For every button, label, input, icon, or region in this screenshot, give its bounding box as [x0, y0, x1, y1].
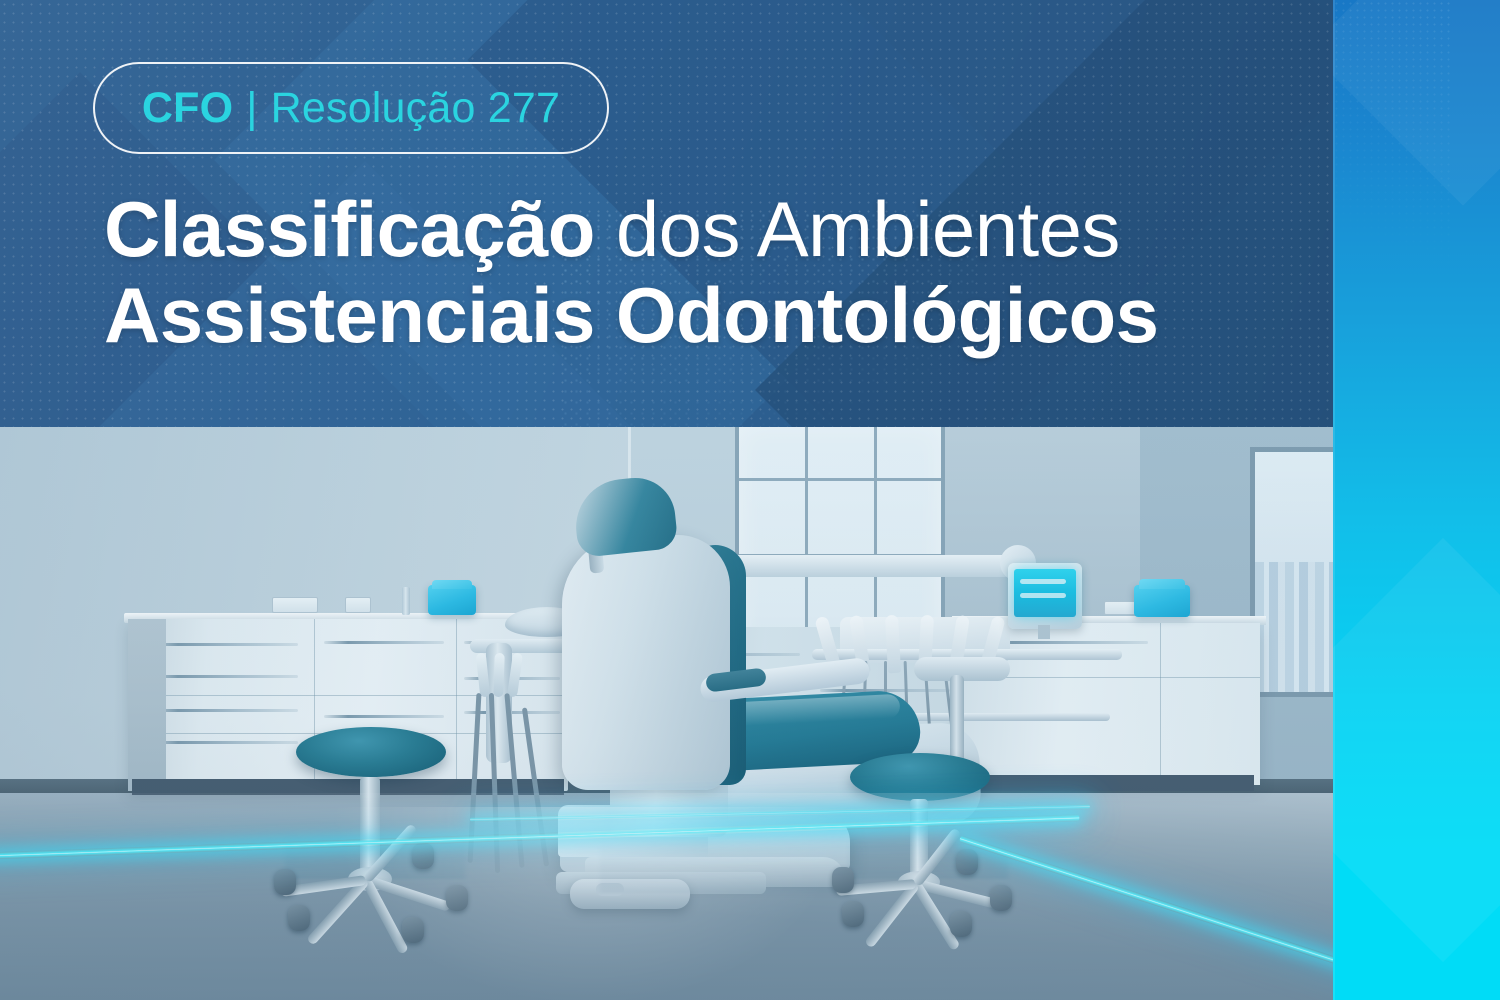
foot-control-pedal	[570, 879, 690, 909]
drawer-handle	[324, 641, 444, 644]
cabinet-left-side-panel	[128, 619, 166, 791]
wall-socket-left	[272, 597, 318, 613]
clinic-photo	[0, 427, 1333, 1000]
overhead-arm-horizontal	[700, 555, 1020, 577]
badge-org-label: CFO	[142, 87, 233, 130]
monitor-screen-line-2	[1020, 593, 1066, 598]
accent-gradient-panel	[1333, 0, 1500, 1000]
page-title: Classificação dos Ambientes Assistenciai…	[104, 186, 1284, 358]
accent-panel-facet-1	[1333, 538, 1500, 962]
dental-chair-backrest	[562, 535, 730, 790]
side-window	[1250, 447, 1333, 697]
window-mullion-h1	[739, 478, 941, 481]
drawer-handle	[324, 715, 444, 718]
resolution-badge: CFO | Resolução 277	[93, 62, 609, 154]
monitor-screen	[1014, 569, 1076, 617]
stool-caster	[446, 885, 468, 911]
banner-root: CFO | Resolução 277 Classificação dos Am…	[0, 0, 1500, 1000]
badge-resolution-label: Resolução 277	[271, 87, 560, 130]
stool-caster	[842, 901, 864, 927]
stool-caster	[990, 885, 1012, 911]
monitor-stand	[1038, 625, 1050, 639]
cyan-supply-box-right	[1134, 585, 1190, 617]
cyan-box-lid	[1139, 579, 1185, 589]
monitor-screen-line-1	[1020, 579, 1066, 584]
city-skyline-side	[1255, 562, 1333, 692]
stool-caster	[832, 867, 854, 893]
badge-separator: |	[233, 87, 270, 130]
title-line1-light: dos Ambientes	[595, 185, 1120, 273]
suction-tip-2	[493, 653, 505, 697]
title-line1-bold: Classificação	[104, 185, 595, 273]
stool-caster	[402, 917, 424, 943]
cabinet-seam	[1160, 623, 1161, 785]
cyan-supply-box-left	[428, 585, 476, 615]
operator-stool	[270, 727, 490, 917]
stool-caster	[274, 869, 296, 895]
foot-control-button	[596, 883, 624, 896]
assistant-stool	[838, 657, 1038, 907]
page-title-line-2: Assistenciais Odontológicos	[104, 272, 1284, 358]
accent-panel-seam	[1333, 0, 1335, 1000]
header-band: CFO | Resolução 277 Classificação dos Am…	[0, 0, 1333, 427]
stool-seat	[296, 727, 446, 777]
wall-socket-left-2	[345, 597, 371, 613]
cyan-box-lid	[432, 580, 472, 589]
drawer-handle	[148, 709, 298, 712]
drawer-handle	[148, 675, 298, 678]
resolution-badge-text: CFO | Resolução 277	[142, 87, 560, 130]
stool-caster	[288, 905, 310, 931]
dispenser-bottle	[402, 587, 410, 615]
stool-caster	[956, 849, 978, 875]
page-title-line-1: Classificação dos Ambientes	[104, 186, 1284, 272]
stool-seat	[850, 753, 990, 801]
drawer-handle	[148, 643, 298, 646]
stool-caster	[950, 911, 972, 937]
stool-caster	[412, 843, 434, 869]
